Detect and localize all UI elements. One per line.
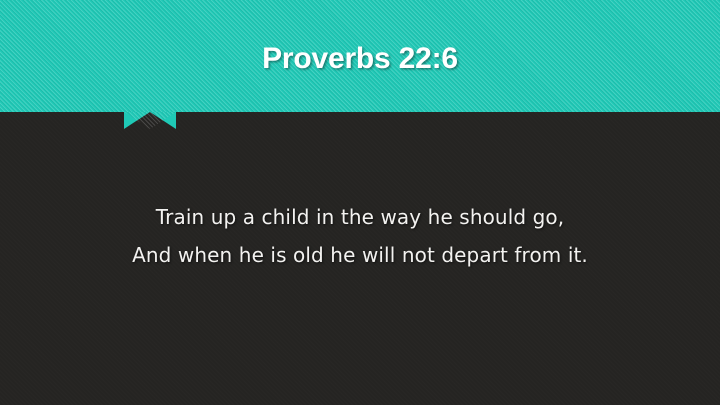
body-line: And when he is old he will not depart fr… — [0, 236, 720, 274]
header-notch-triangle-icon — [124, 112, 176, 129]
presentation-slide: Proverbs 22:6 Train up a child in the wa… — [0, 0, 720, 405]
page-title: Proverbs 22:6 — [0, 42, 720, 76]
body-line: Train up a child in the way he should go… — [0, 198, 720, 236]
slide-body: Train up a child in the way he should go… — [0, 198, 720, 274]
